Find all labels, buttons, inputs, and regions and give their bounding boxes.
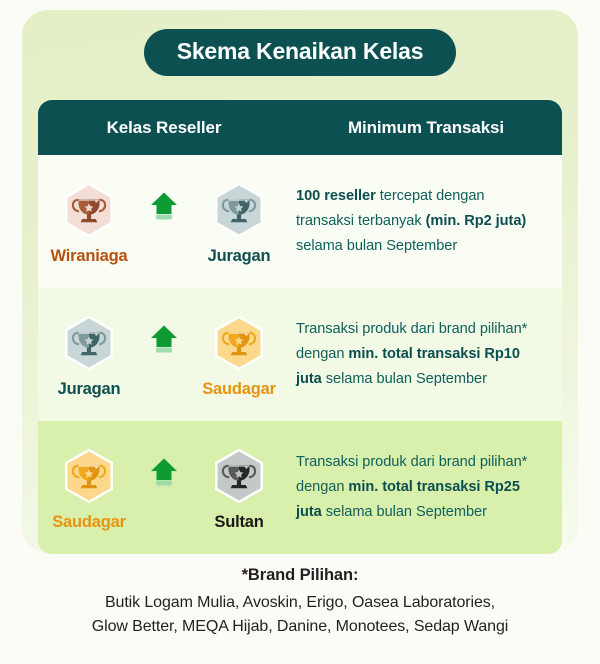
tier-from: Wiraniaga bbox=[41, 180, 137, 266]
footer-brand-line: Butik Logam Mulia, Avoskin, Erigo, Oasea… bbox=[0, 591, 600, 615]
tier-from-label: Wiraniaga bbox=[51, 247, 128, 266]
requirement-cell: Transaksi produk dari brand pilihan* den… bbox=[290, 307, 562, 402]
tier-to: Saudagar bbox=[191, 313, 287, 399]
tier-to: Sultan bbox=[191, 446, 287, 532]
upgrade-arrow bbox=[143, 323, 185, 388]
table-body: Wiraniaga bbox=[38, 155, 562, 554]
silver-trophy-icon bbox=[210, 180, 268, 238]
tier-from: Juragan bbox=[41, 313, 137, 399]
up-arrow-icon bbox=[149, 323, 179, 362]
footer-title: *Brand Pilihan: bbox=[0, 566, 600, 585]
tier-progression-cell: Saudagar bbox=[38, 432, 290, 544]
tier-to-label: Juragan bbox=[208, 247, 271, 266]
title-pill-container: Skema Kenaikan Kelas bbox=[0, 29, 600, 76]
tier-to-label: Saudagar bbox=[202, 380, 276, 399]
page-title: Skema Kenaikan Kelas bbox=[144, 29, 457, 76]
table-row: Saudagar bbox=[38, 421, 562, 554]
gold-trophy-icon bbox=[210, 313, 268, 371]
column-header-minimum-transaksi: Minimum Transaksi bbox=[290, 118, 562, 138]
tier-to-label: Sultan bbox=[214, 513, 263, 532]
up-arrow-icon bbox=[149, 190, 179, 229]
up-arrow-icon bbox=[149, 456, 179, 495]
table-header-row: Kelas Reseller Minimum Transaksi bbox=[38, 100, 562, 155]
tier-from-label: Juragan bbox=[58, 380, 121, 399]
tier-from: Saudagar bbox=[41, 446, 137, 532]
tier-to: Juragan bbox=[191, 180, 287, 266]
tier-progression-cell: Juragan bbox=[38, 299, 290, 411]
table-row: Wiraniaga bbox=[38, 155, 562, 288]
desc-text: selama bulan September bbox=[322, 504, 487, 520]
gold-trophy-icon bbox=[60, 446, 118, 504]
table-row: Juragan bbox=[38, 288, 562, 421]
black-trophy-icon bbox=[210, 446, 268, 504]
tier-from-label: Saudagar bbox=[52, 513, 126, 532]
footer-note: *Brand Pilihan: Butik Logam Mulia, Avosk… bbox=[0, 566, 600, 639]
tier-table-card: Kelas Reseller Minimum Transaksi Wi bbox=[38, 100, 562, 554]
tier-progression-cell: Wiraniaga bbox=[38, 166, 290, 278]
desc-emphasis: (min. Rp2 juta) bbox=[426, 213, 527, 229]
silver-trophy-icon bbox=[60, 313, 118, 371]
upgrade-arrow bbox=[143, 190, 185, 255]
desc-emphasis: 100 reseller bbox=[296, 188, 376, 204]
bronze-trophy-icon bbox=[60, 180, 118, 238]
desc-text: selama bulan September bbox=[296, 238, 457, 254]
requirement-cell: 100 reseller tercepat dengan transaksi t… bbox=[290, 174, 562, 269]
footer-brand-line: Glow Better, MEQA Hijab, Danine, Monotee… bbox=[0, 615, 600, 639]
column-header-kelas-reseller: Kelas Reseller bbox=[38, 118, 290, 138]
desc-text: selama bulan September bbox=[322, 371, 487, 387]
upgrade-arrow bbox=[143, 456, 185, 521]
requirement-cell: Transaksi produk dari brand pilihan* den… bbox=[290, 440, 562, 535]
